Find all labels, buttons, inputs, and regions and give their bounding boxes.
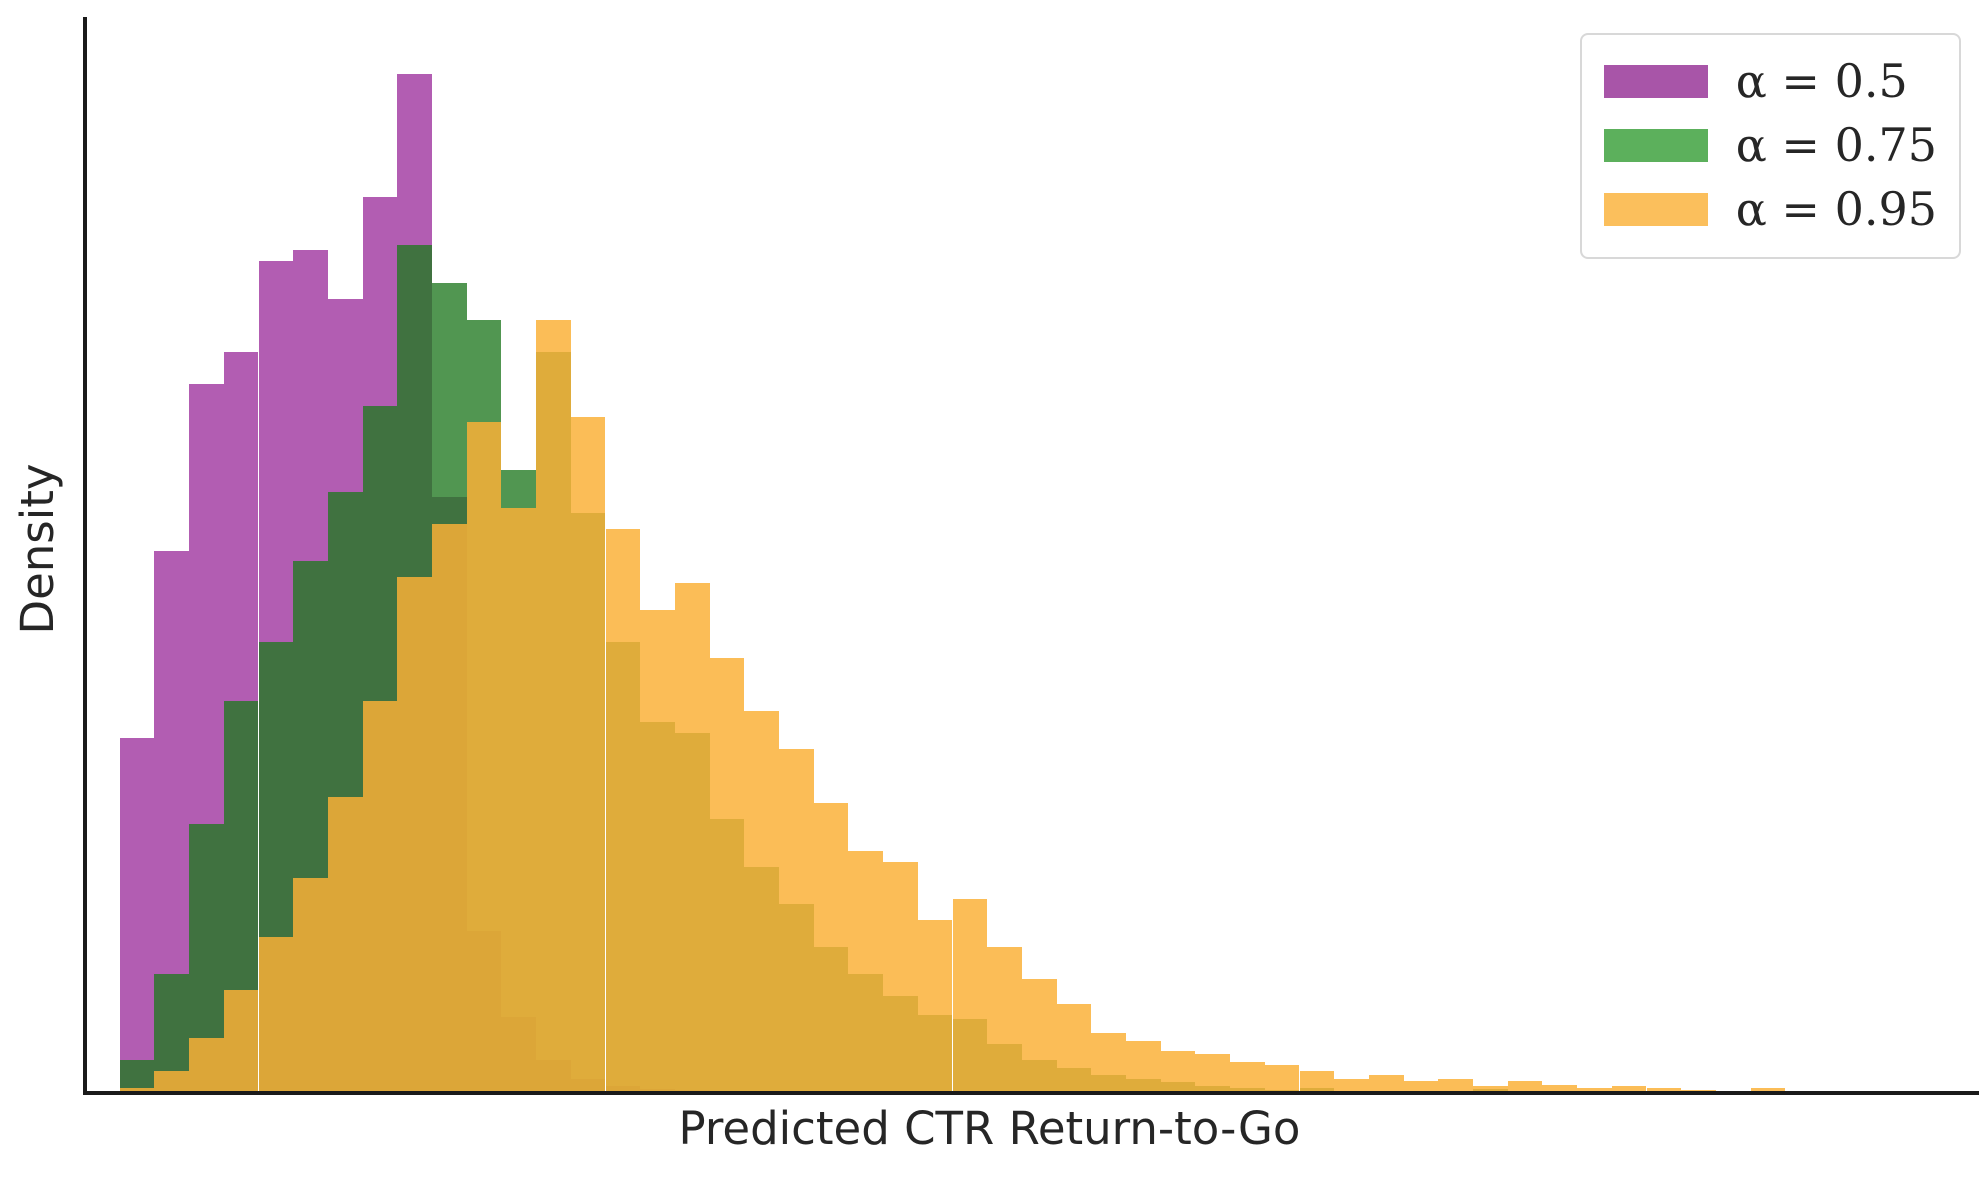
histogram-bar (397, 577, 432, 1092)
histogram-bar (918, 920, 953, 1092)
histogram-bar (710, 658, 745, 1092)
histogram-bar (501, 508, 536, 1092)
legend-label-alpha-0-5: α = 0.5 (1736, 54, 1908, 108)
histogram-bar (1195, 1054, 1230, 1092)
histogram-bar (432, 524, 467, 1092)
histogram-bar (779, 749, 814, 1092)
histogram-bar (744, 711, 779, 1092)
histogram-bar (640, 610, 675, 1092)
histogram-bar (293, 878, 328, 1092)
histogram-bar (154, 1071, 189, 1092)
legend-swatch-icon-alpha-0-95 (1604, 193, 1708, 226)
histogram-bar (1300, 1071, 1335, 1092)
histogram-bar (1126, 1041, 1161, 1092)
y-axis-label-wrapper: Density (7, 269, 67, 829)
legend-swatch-icon-alpha-0-75 (1604, 129, 1708, 162)
histogram-bar (675, 583, 710, 1092)
histogram-bar (1369, 1075, 1404, 1092)
y-axis-spine (83, 17, 87, 1095)
legend-label-alpha-0-75: α = 0.75 (1736, 118, 1937, 172)
y-axis-label: Density (11, 463, 64, 634)
x-axis-spine (83, 1091, 1979, 1095)
histogram-figure: Predicted CTR Return-to-Go Density α = 0… (0, 0, 1979, 1180)
histogram-bar (814, 803, 849, 1092)
histogram-bar (1265, 1065, 1300, 1092)
histogram-bar (536, 320, 571, 1092)
histogram-bar (189, 1038, 224, 1092)
histogram-bar (606, 529, 641, 1092)
histogram-bar (1230, 1062, 1265, 1092)
histogram-bar (259, 937, 294, 1092)
legend-entry-alpha-0-75[interactable]: α = 0.75 (1604, 113, 1937, 177)
histogram-bar (883, 862, 918, 1092)
histogram-bar (1022, 979, 1057, 1092)
legend-swatch-icon-alpha-0-5 (1604, 65, 1708, 98)
histogram-bar (953, 899, 988, 1092)
histogram-bar (848, 851, 883, 1092)
histogram-bar (571, 417, 606, 1092)
legend-label-alpha-0-95: α = 0.95 (1736, 182, 1937, 236)
histogram-bar (363, 701, 398, 1092)
histogram-bar (328, 797, 363, 1092)
histogram-bar (1057, 1004, 1092, 1092)
histogram-bar (467, 422, 502, 1092)
legend-entry-alpha-0-5[interactable]: α = 0.5 (1604, 49, 1937, 113)
legend-entry-alpha-0-95[interactable]: α = 0.95 (1604, 177, 1937, 241)
histogram-bar (1091, 1033, 1126, 1092)
histogram-bar (1161, 1051, 1196, 1092)
legend[interactable]: α = 0.5 α = 0.75 α = 0.95 (1580, 33, 1961, 259)
histogram-bar (987, 947, 1022, 1092)
histogram-bar (224, 990, 259, 1092)
x-axis-label: Predicted CTR Return-to-Go (0, 1102, 1979, 1155)
